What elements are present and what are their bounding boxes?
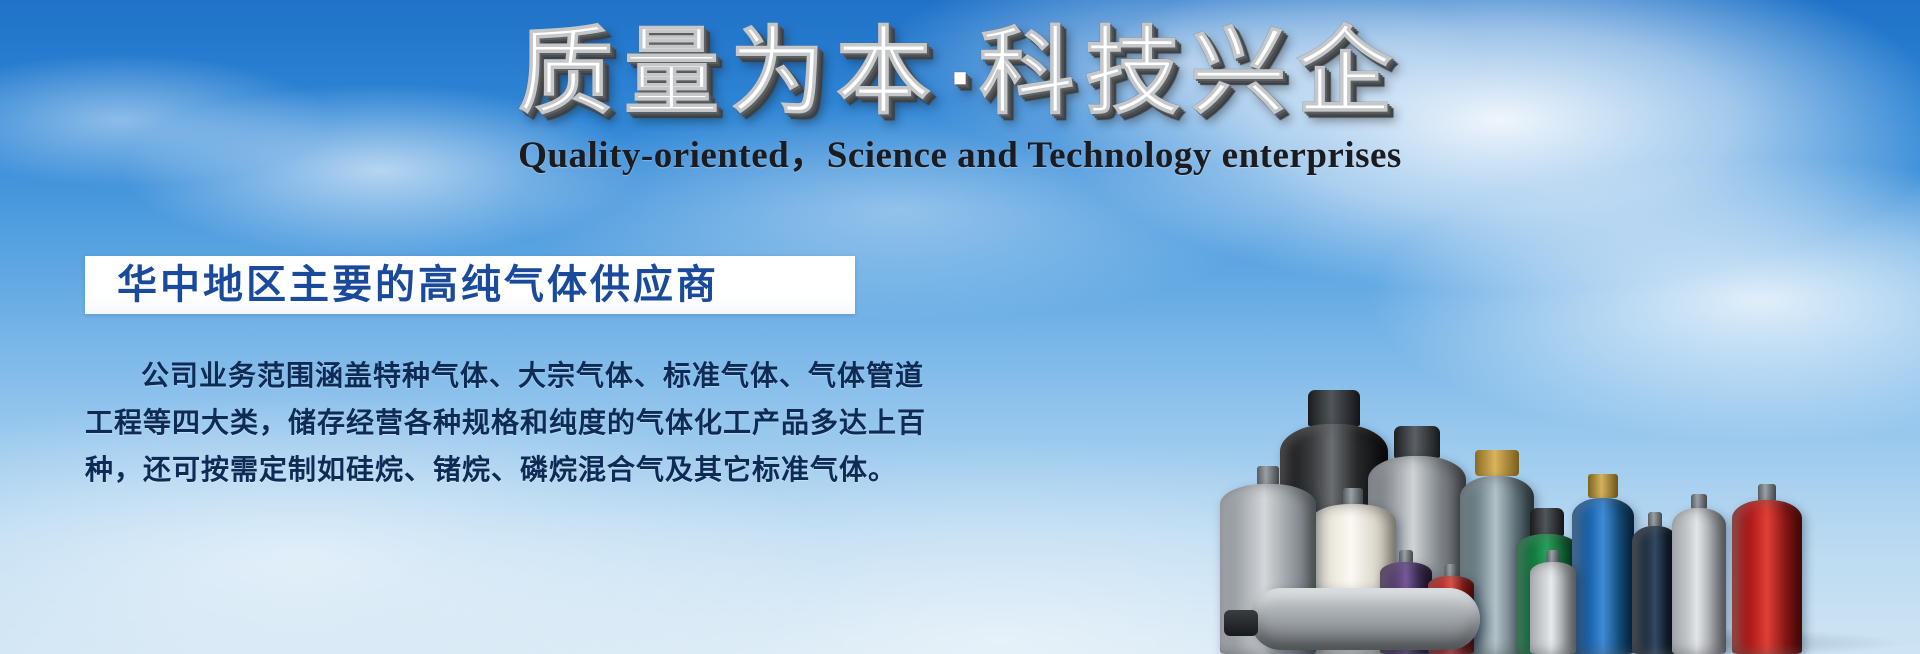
description-line-3: 种，还可按需定制如硅烷、锗烷、磷烷混合气及其它标准气体。	[85, 446, 875, 493]
description-line-2: 工程等四大类，储存经营各种规格和纯度的气体化工产品多达上百	[85, 399, 875, 446]
headline-part-2: 科技兴企	[979, 16, 1403, 128]
banner-description: 公司业务范围涵盖特种气体、大宗气体、标准气体、气体管道 工程等四大类，储存经营各…	[85, 352, 875, 493]
cylinder-body	[1530, 562, 1576, 654]
cylinder-body	[1732, 500, 1802, 654]
banner-subtitle: Quality-oriented，Science and Technology …	[0, 134, 1920, 178]
horizontal-tank-valve	[1224, 610, 1258, 636]
brass-valve	[1475, 450, 1519, 476]
slogan-highlight-box: 华中地区主要的高纯气体供应商	[85, 256, 855, 314]
headline-part-1: 质量为本	[517, 16, 941, 128]
cylinder-valve	[1588, 474, 1618, 498]
banner-headline: 质量为本·科技兴企	[0, 16, 1920, 135]
cylinder-cap	[1308, 390, 1360, 426]
aluminium-small-cylinder	[1530, 562, 1576, 654]
promotional-banner: 质量为本·科技兴企 Quality-oriented，Science and T…	[0, 0, 1920, 654]
cylinder-body	[1672, 508, 1726, 654]
description-line-1: 公司业务范围涵盖特种气体、大宗气体、标准气体、气体管道	[85, 352, 875, 399]
horizontal-grey-tank	[1250, 588, 1480, 650]
gas-cylinder-group	[1220, 234, 1920, 654]
headline-separator-dot: ·	[941, 40, 978, 117]
cylinder-cap	[1530, 508, 1564, 536]
red-tall-cylinder	[1732, 500, 1802, 654]
blue-cylinder	[1572, 498, 1634, 654]
cylinder-body	[1572, 498, 1634, 654]
slogan-text: 华中地区主要的高纯气体供应商	[85, 263, 719, 307]
aluminium-cylinder	[1672, 508, 1726, 654]
cylinder-neck	[1257, 466, 1279, 486]
cylinder-cap	[1394, 426, 1440, 458]
